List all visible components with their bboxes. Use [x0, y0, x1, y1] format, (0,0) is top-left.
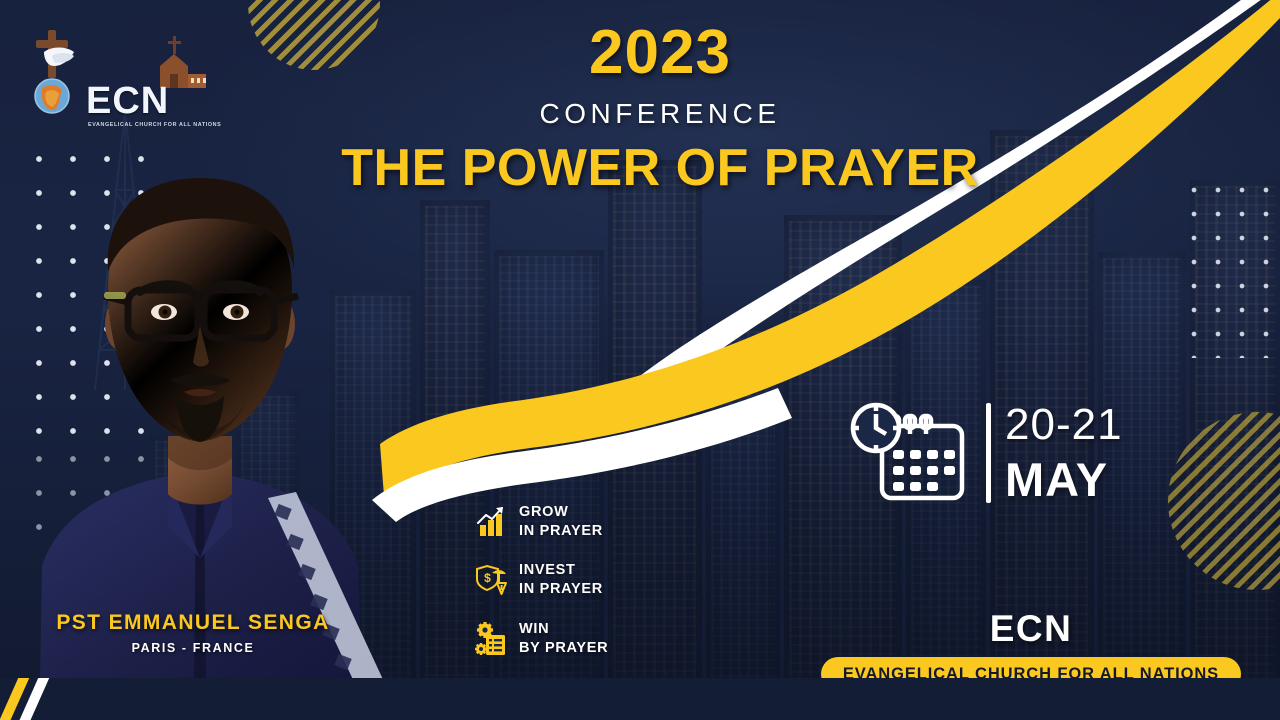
bar-chart-growth-icon [474, 505, 508, 539]
speaker-location: PARIS - FRANCE [28, 642, 358, 655]
date-days: 20-21 [1005, 403, 1123, 447]
calendar-clock-icon [848, 402, 972, 504]
feature-line1: INVEST [519, 561, 603, 580]
feature-item-win: WIN BY PRAYER [474, 620, 704, 658]
globe-icon [35, 79, 69, 113]
conference-title: THE POWER OF PRAYER [300, 142, 1020, 194]
feature-line2: IN PRAYER [519, 522, 603, 541]
brand-abbreviation: ECN [796, 610, 1266, 647]
conference-kicker: CONFERENCE [300, 100, 1020, 128]
svg-text:$: $ [484, 571, 491, 585]
date-divider [986, 403, 991, 503]
date-text: 20-21 MAY [1005, 403, 1123, 503]
headline-block: 2023 CONFERENCE THE POWER OF PRAYER [300, 22, 1020, 194]
feature-item-grow: GROW IN PRAYER [474, 503, 704, 541]
bottom-bar [0, 678, 1280, 720]
feature-line1: GROW [519, 503, 603, 522]
conference-year: 2023 [300, 22, 1020, 84]
conference-poster: ECN EVANGELICAL CHURCH FOR ALL NATIONS 2… [0, 0, 1280, 720]
ecn-logo[interactable]: ECN EVANGELICAL CHURCH FOR ALL NATIONS [26, 26, 206, 130]
speaker-block: PST EMMANUEL SENGA PARIS - FRANCE [28, 612, 358, 655]
feature-list: GROW IN PRAYER $ INVEST IN PRAYER [474, 503, 704, 678]
date-month: MAY [1005, 456, 1123, 503]
logo-tagline: EVANGELICAL CHURCH FOR ALL NATIONS [88, 122, 221, 128]
feature-line2: BY PRAYER [519, 639, 608, 658]
logo-wordmark: ECN [86, 82, 169, 120]
speaker-name: PST EMMANUEL SENGA [28, 612, 358, 633]
event-date-block: 20-21 MAY [848, 402, 1123, 504]
feature-line1: WIN [519, 620, 608, 639]
gear-document-icon [474, 622, 508, 656]
feature-line2: IN PRAYER [519, 580, 603, 599]
dove-icon [44, 48, 74, 67]
feature-label-grow: GROW IN PRAYER [519, 503, 603, 541]
feature-label-win: WIN BY PRAYER [519, 620, 608, 658]
shield-dollar-icon: $ [474, 563, 508, 597]
feature-item-invest: $ INVEST IN PRAYER [474, 561, 704, 599]
feature-label-invest: INVEST IN PRAYER [519, 561, 603, 599]
